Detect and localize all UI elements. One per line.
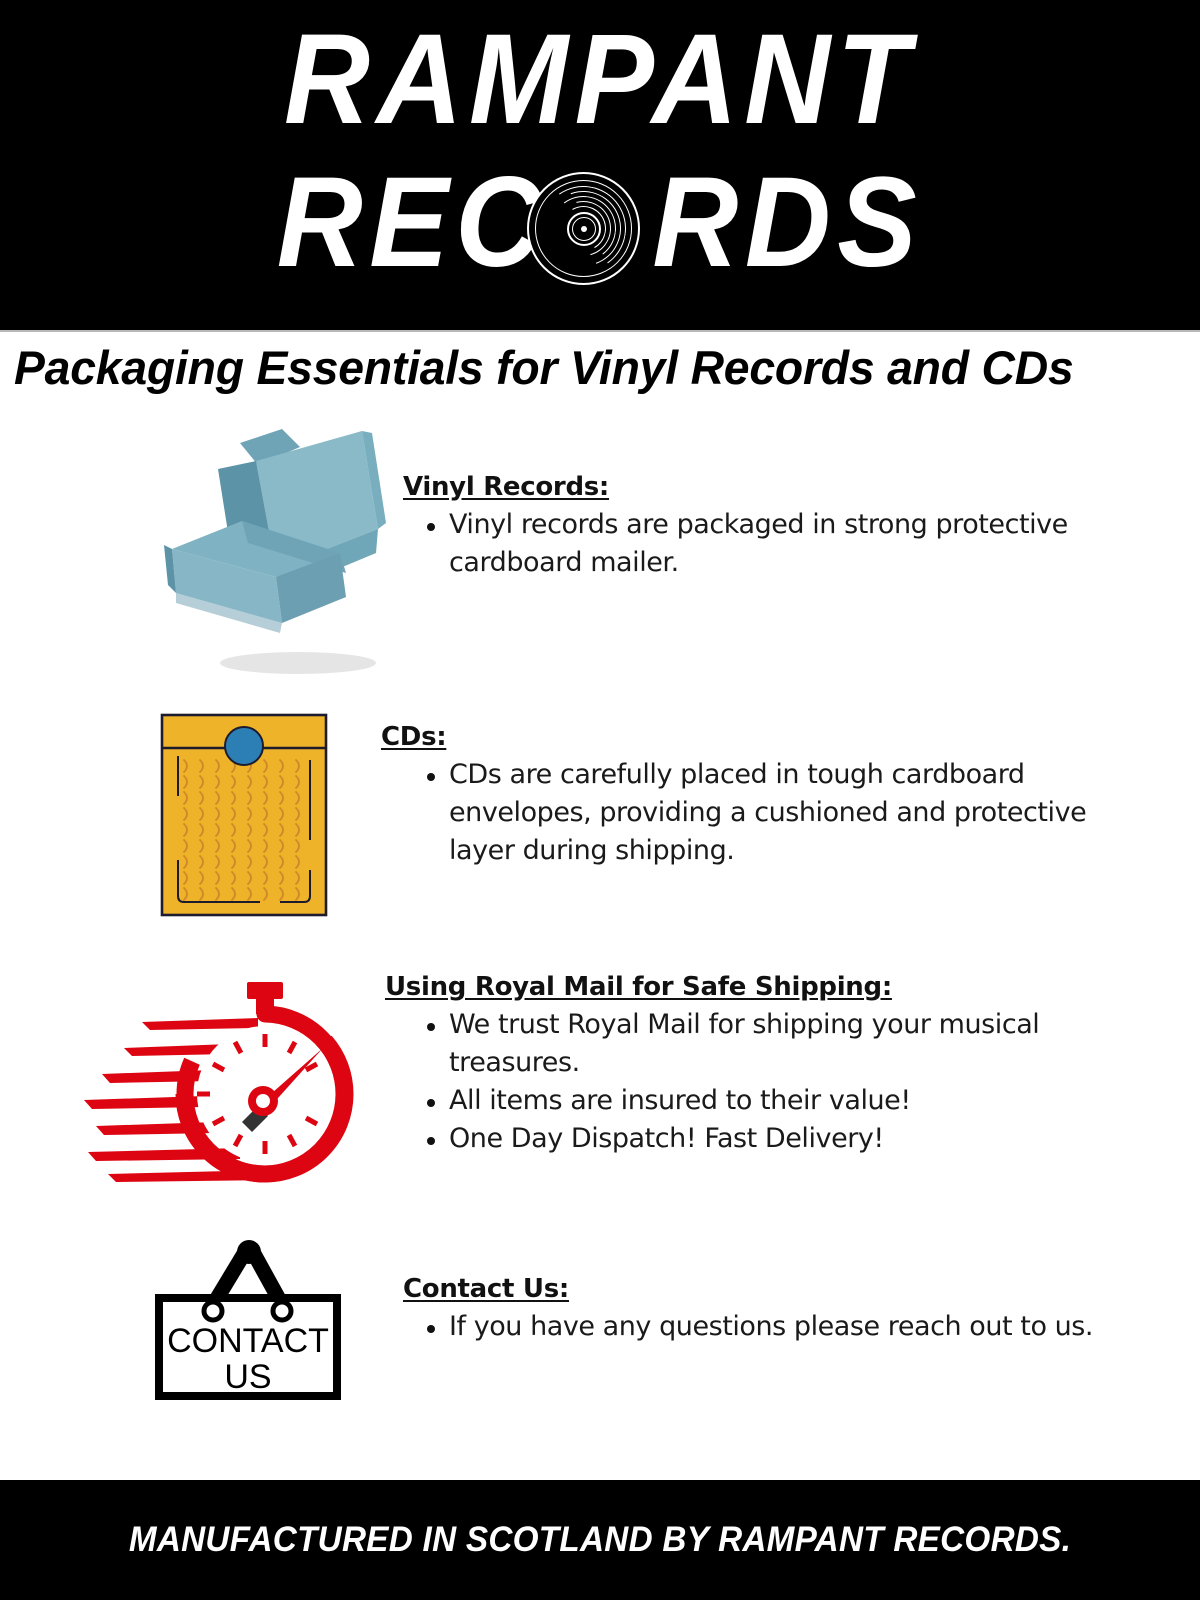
list-item: Vinyl records are packaged in strong pro… [403,506,1103,582]
brand-line-rampant: RAMPANT [42,6,1158,154]
section-bullets-royal-mail: We trust Royal Mail for shipping your mu… [403,1006,1105,1158]
sign-label-line1: CONTACT [167,1322,329,1360]
list-item: CDs are carefully placed in tough cardbo… [403,756,1101,870]
fast-stopwatch-icon [80,960,355,1195]
contact-us-sign-icon: CONTACT US [145,1218,350,1408]
cardboard-mailer-box-icon [130,425,400,680]
section-heading-vinyl-records: Vinyl Records: [403,470,1103,504]
list-item: One Day Dispatch! Fast Delivery! [403,1120,1105,1158]
footer-text: MANUFACTURED IN SCOTLAND BY RAMPANT RECO… [30,1480,1170,1600]
section-royal-mail-text: Using Royal Mail for Safe Shipping: We t… [385,970,1105,1158]
brand-logo: RAMPANT RECORDS [0,0,1200,332]
vinyl-record-icon [527,172,640,285]
list-item: If you have any questions please reach o… [403,1308,1123,1346]
list-item: We trust Royal Mail for shipping your mu… [403,1006,1105,1082]
list-item: All items are insured to their value! [403,1082,1105,1120]
section-heading-royal-mail: Using Royal Mail for Safe Shipping: [385,970,1105,1004]
section-cds-text: CDs: CDs are carefully placed in tough c… [381,720,1101,870]
poster: RAMPANT RECORDS Packaging Essentials for… [0,0,1200,1600]
section-bullets-vinyl-records: Vinyl records are packaged in strong pro… [403,506,1103,582]
sign-label-line2: US [224,1358,271,1396]
brand-records-suffix: RDS [652,151,923,294]
section-bullets-contact-us: If you have any questions please reach o… [403,1308,1123,1346]
brand-records-prefix: REC [277,151,548,294]
section-heading-cds: CDs: [381,720,1101,754]
page-subtitle: Packaging Essentials for Vinyl Records a… [14,338,1171,398]
padded-bubble-envelope-icon [150,700,350,930]
section-contact-us-text: Contact Us: If you have any questions pl… [403,1272,1123,1346]
section-bullets-cds: CDs are carefully placed in tough cardbo… [403,756,1101,870]
section-heading-contact-us: Contact Us: [403,1272,1123,1306]
section-vinyl-records-text: Vinyl Records: Vinyl records are package… [403,470,1103,582]
